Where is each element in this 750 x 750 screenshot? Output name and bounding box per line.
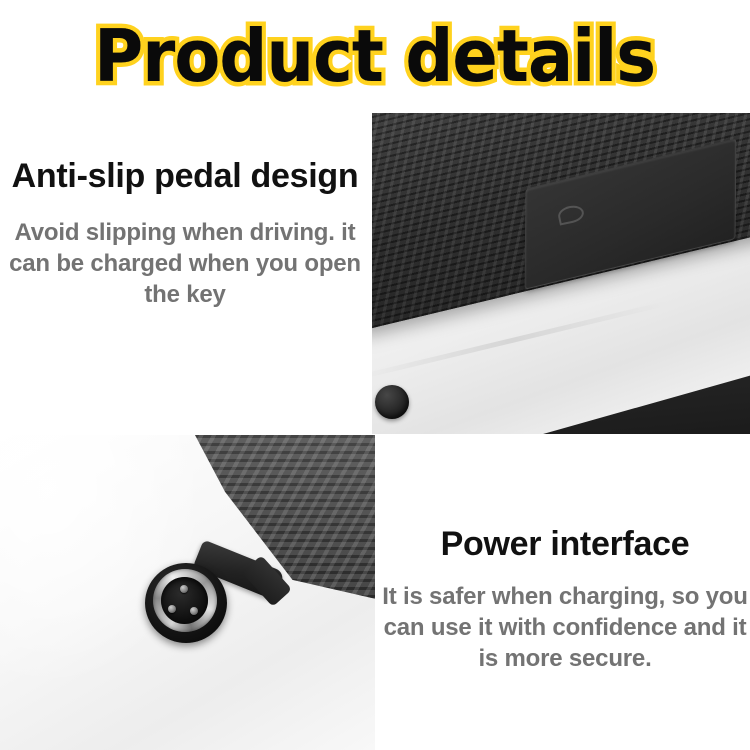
power-interface-photo bbox=[0, 435, 375, 750]
page-title-wrapper: Product details Product details bbox=[0, 10, 750, 102]
anti-slip-heading: Anti-slip pedal design bbox=[6, 156, 364, 196]
power-interface-body: It is safer when charging, so you can us… bbox=[382, 582, 748, 674]
page-title: Product details bbox=[94, 20, 655, 92]
port-pin-1 bbox=[180, 585, 188, 593]
page-title-inner: Product details Product details bbox=[73, 20, 676, 92]
round-rubber-knob bbox=[375, 385, 409, 419]
port-pin-2 bbox=[168, 605, 176, 613]
port-pin-3 bbox=[190, 607, 198, 615]
product-details-page: Product details Product details Anti-sli… bbox=[0, 0, 750, 750]
anti-slip-pedal-photo bbox=[372, 113, 750, 434]
power-interface-text-block: Power interface It is safer when chargin… bbox=[382, 524, 748, 674]
power-interface-heading: Power interface bbox=[382, 524, 748, 564]
anti-slip-text-block: Anti-slip pedal design Avoid slipping wh… bbox=[6, 156, 364, 310]
anti-slip-body: Avoid slipping when driving. it can be c… bbox=[6, 218, 364, 310]
